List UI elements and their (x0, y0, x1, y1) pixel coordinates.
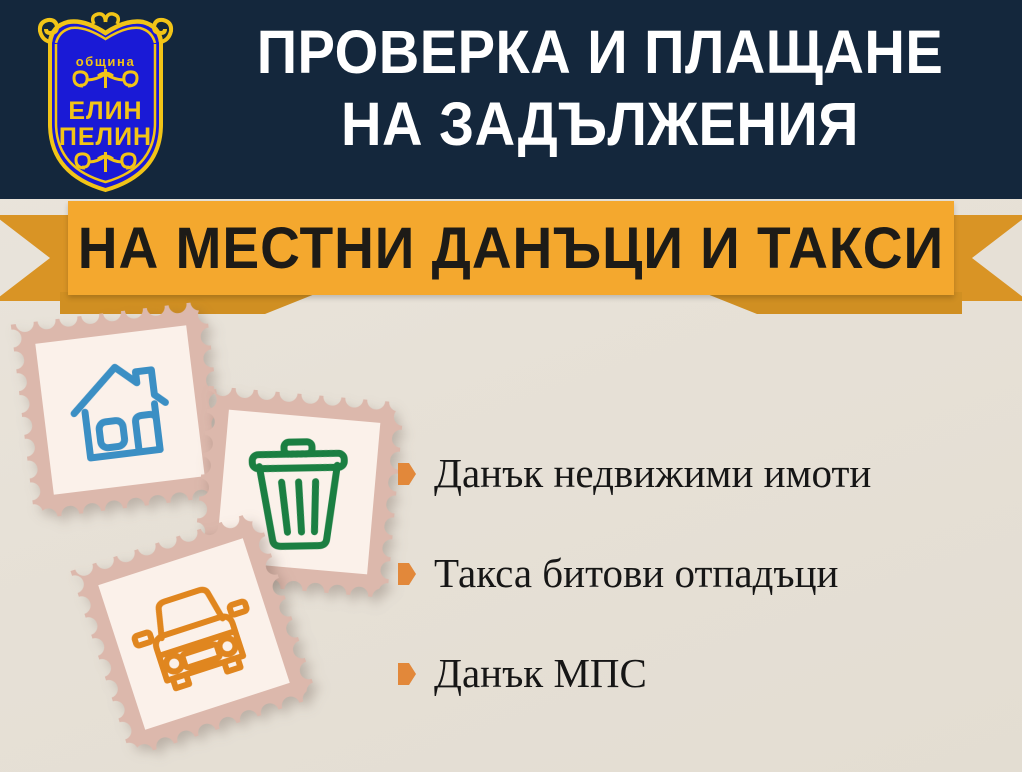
ribbon-banner: НА МЕСТНИ ДАНЪЦИ И ТАКСИ (68, 201, 954, 295)
poster-canvas: община ЕЛИН ПЕЛИН (0, 0, 1022, 772)
coat-of-arms-emblem: община ЕЛИН ПЕЛИН (28, 6, 183, 194)
arrow-bullet-icon (398, 663, 416, 685)
ribbon-label: НА МЕСТНИ ДАНЪЦИ И ТАКСИ (78, 215, 944, 282)
list-item[interactable]: Такса битови отпадъци (398, 524, 1008, 624)
stamp-card-property (11, 301, 229, 519)
emblem-text-elin: ЕЛИН (68, 97, 142, 125)
list-item[interactable]: Данък МПС (398, 624, 1008, 724)
list-item-label: Такса битови отпадъци (434, 551, 838, 596)
list-item[interactable]: Данък недвижими имоти (398, 424, 1008, 524)
list-item-label: Данък недвижими имоти (434, 451, 871, 496)
tax-type-list: Данък недвижими имоти Такса битови отпад… (398, 424, 1008, 724)
subtitle-ribbon: НА МЕСТНИ ДАНЪЦИ И ТАКСИ (0, 197, 1022, 309)
ribbon-fold-right (702, 292, 962, 314)
emblem-text-pelin: ПЕЛИН (59, 123, 152, 151)
header-bar: община ЕЛИН ПЕЛИН (0, 0, 1022, 199)
emblem-text-obshtina: община (76, 54, 136, 69)
list-item-label: Данък МПС (434, 651, 647, 696)
page-title-line-1: ПРОВЕРКА И ПЛАЩАНЕ (219, 16, 981, 88)
page-title-line-2: НА ЗАДЪЛЖЕНИЯ (219, 88, 981, 160)
arrow-bullet-icon (398, 463, 416, 485)
page-title: ПРОВЕРКА И ПЛАЩАНЕ НА ЗАДЪЛЖЕНИЯ (186, 16, 1014, 160)
arrow-bullet-icon (398, 563, 416, 585)
